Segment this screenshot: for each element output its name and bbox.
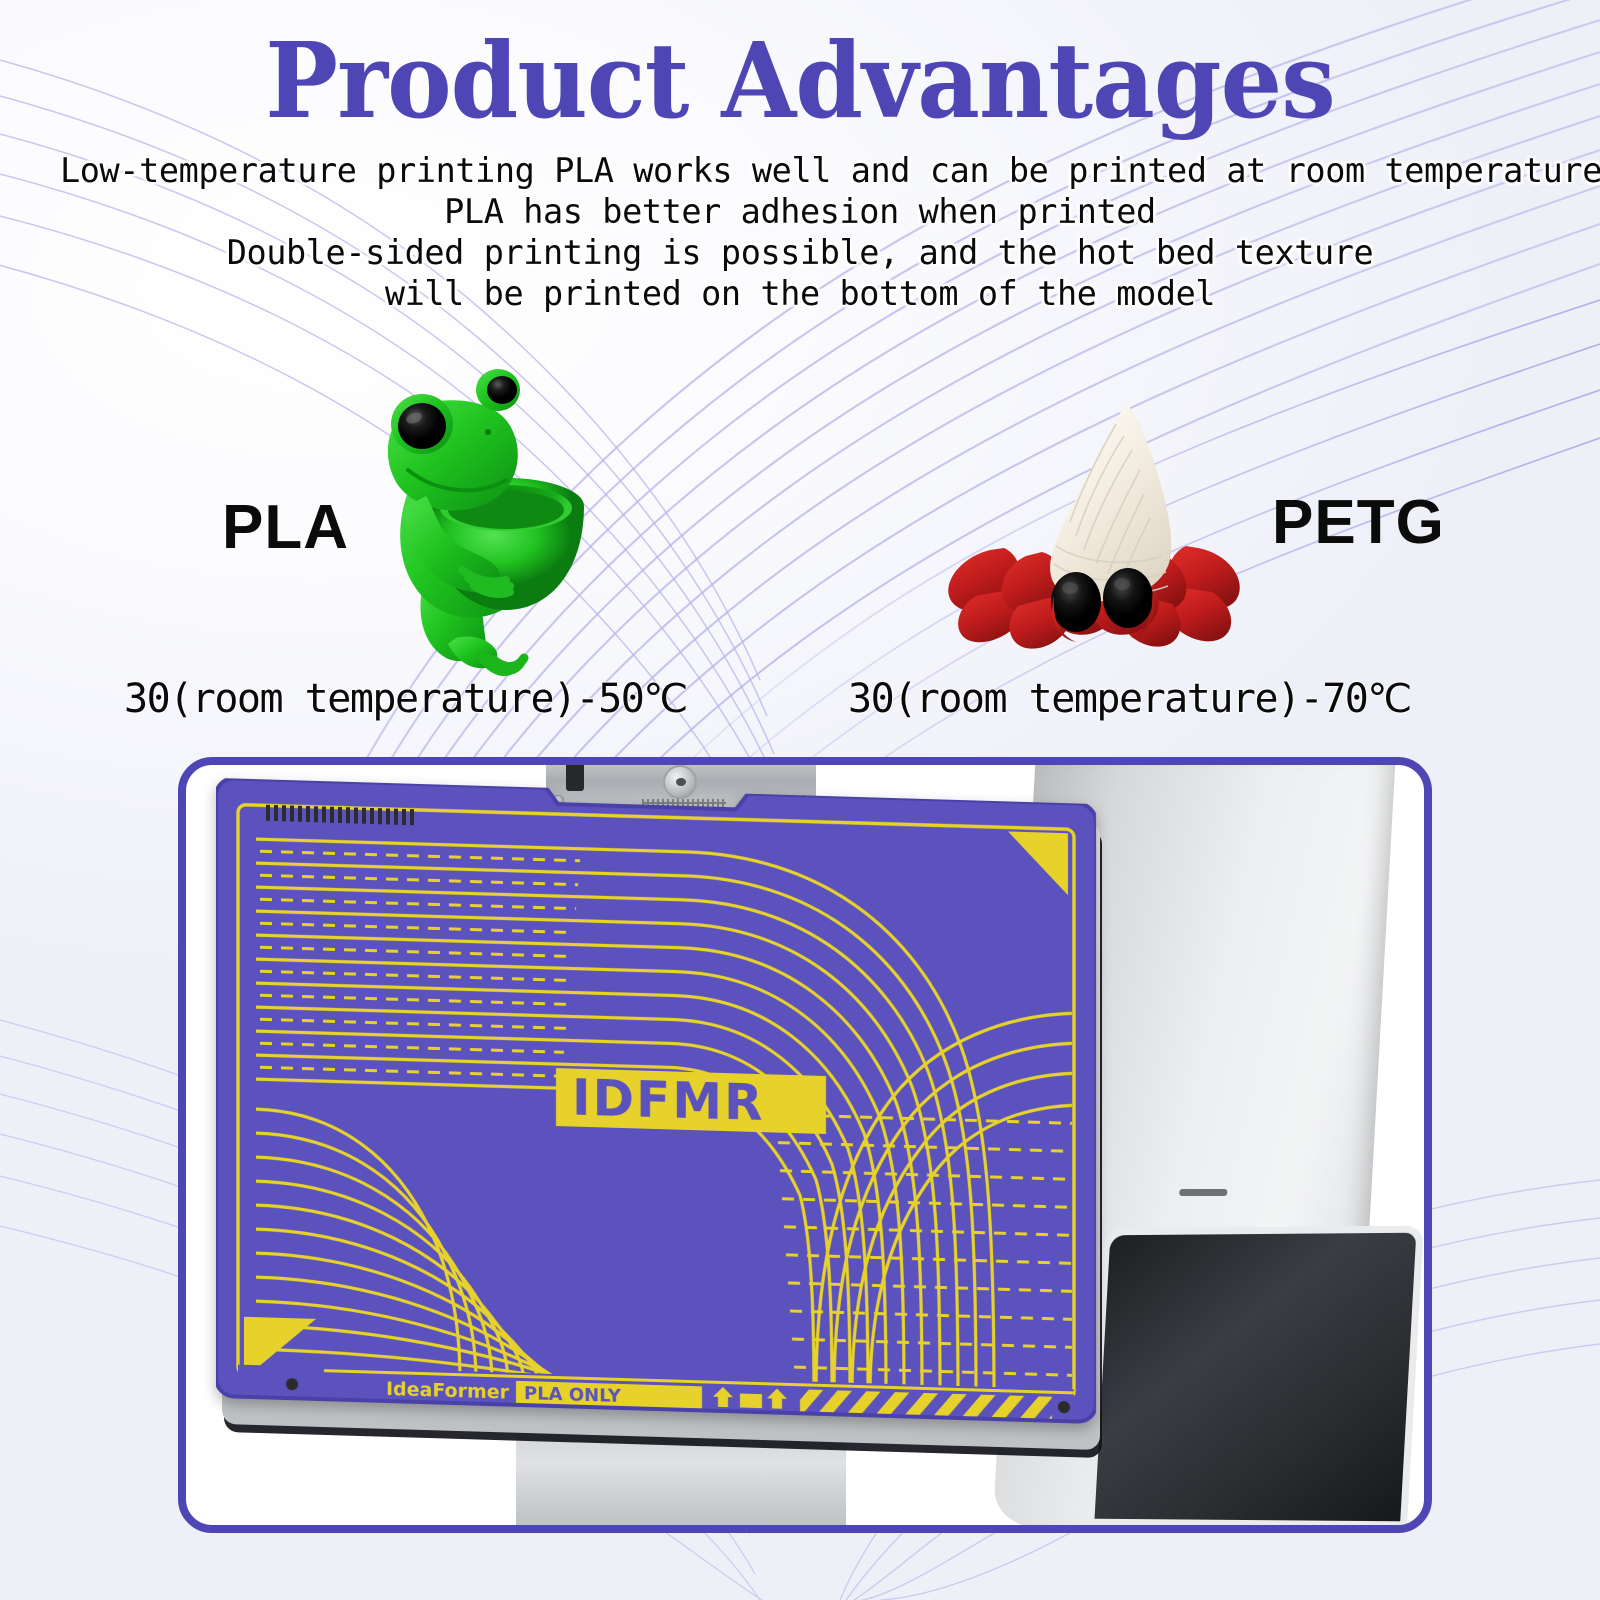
product-photo-panel: IDFMR IdeaFormer PLA ONLY — [178, 757, 1432, 1533]
plate-brand-badge-text: IDFMR — [572, 1069, 764, 1133]
subtitle-block: Low-temperature printing PLA works well … — [60, 150, 1540, 314]
plate-brand-badge: IDFMR — [556, 1068, 826, 1134]
subtitle-line-1: Low-temperature printing PLA works well … — [60, 150, 1540, 191]
material-label-pla: PLA — [222, 492, 349, 563]
build-plate-assembly: IDFMR IdeaFormer PLA ONLY — [202, 789, 1102, 1449]
build-plate-surface[interactable]: IDFMR IdeaFormer PLA ONLY — [216, 778, 1096, 1436]
page-title: Product Advantages — [56, 26, 1544, 135]
petg-crab-model-image — [930, 390, 1260, 670]
subtitle-line-4: will be printed on the bottom of the mod… — [60, 273, 1540, 314]
material-label-petg: PETG — [1272, 487, 1445, 558]
subtitle-line-3: Double-sided printing is possible, and t… — [60, 232, 1540, 273]
gantry-slot — [566, 757, 584, 791]
pla-frog-model-image — [330, 358, 590, 678]
temperature-label-pla: 30(room temperature)-50℃ — [124, 676, 687, 722]
printer-touchscreen[interactable] — [1087, 1226, 1424, 1529]
temperature-label-petg: 30(room temperature)-70℃ — [848, 676, 1411, 722]
plate-footer-warning: PLA ONLY — [524, 1383, 622, 1407]
subtitle-line-2: PLA has better adhesion when printed — [60, 191, 1540, 232]
rectangle-icon — [740, 1393, 762, 1408]
product-photo-inner: IDFMR IdeaFormer PLA ONLY — [186, 765, 1424, 1525]
